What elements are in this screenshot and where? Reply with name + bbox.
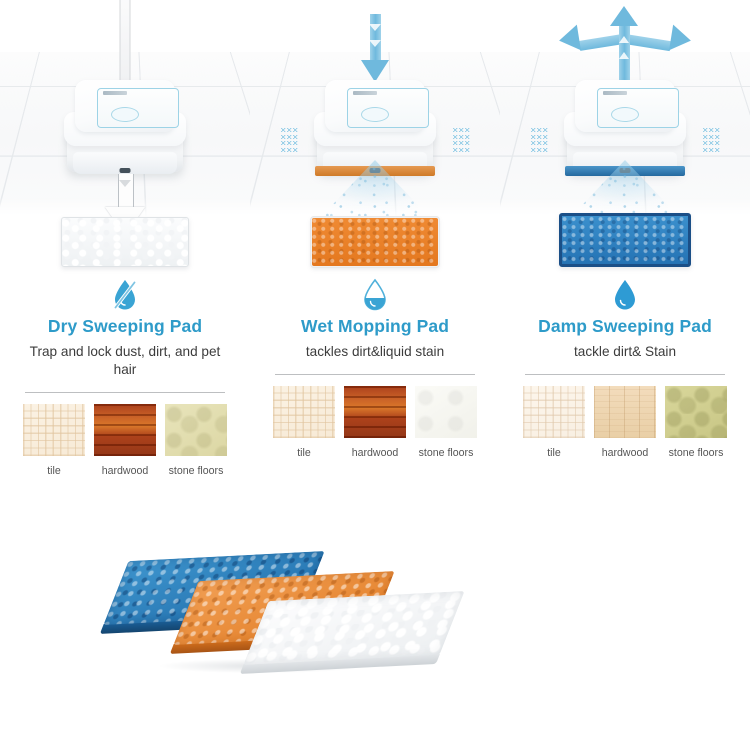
- floor-swatch-label: stone floors: [169, 465, 224, 477]
- damp-sweeping-pad-swatch: [559, 213, 691, 267]
- vibration-waves-left-icon: [280, 128, 298, 162]
- feature-column-dry-sweeping: Dry Sweeping Pad Trap and lock dust, dir…: [0, 0, 250, 528]
- product-photo-section: [0, 528, 750, 750]
- floor-swatch-stone: [165, 404, 227, 456]
- floor-swatch-hardwood: [344, 386, 406, 438]
- robot-mop-device: [63, 78, 187, 182]
- feature-columns: Dry Sweeping Pad Trap and lock dust, dir…: [0, 0, 750, 528]
- floor-type-item: stone floors: [165, 404, 227, 477]
- floor-type-swatches: tile hardwood stone floors: [250, 386, 500, 459]
- floor-swatch-stone: [665, 386, 727, 438]
- floor-swatch-label: hardwood: [602, 447, 649, 459]
- feature-title: Dry Sweeping Pad: [48, 317, 202, 336]
- floor-type-swatches: tile hardwood stone floors: [0, 404, 250, 477]
- illustration-wet-mopping: [250, 0, 500, 275]
- illustration-dry-sweeping: [0, 0, 250, 275]
- floor-swatch-stone: [415, 386, 477, 438]
- feature-column-wet-mopping: Wet Mopping Pad tackles dirt&liquid stai…: [250, 0, 500, 528]
- feature-title: Wet Mopping Pad: [301, 317, 449, 336]
- floor-type-item: tile: [23, 404, 85, 477]
- three-pads-product-photo: [112, 550, 412, 675]
- floor-swatch-tile: [273, 386, 335, 438]
- floor-type-item: stone floors: [415, 386, 477, 459]
- floor-swatch-label: hardwood: [352, 447, 399, 459]
- product-pad-white: [243, 591, 464, 665]
- floor-swatch-tile: [23, 404, 85, 456]
- wet-mopping-pad-swatch: [311, 217, 439, 267]
- feature-subtitle: tackle dirt& Stain: [574, 343, 676, 361]
- nozzle-icon: [120, 168, 131, 173]
- floor-swatch-label: stone floors: [669, 447, 724, 459]
- product-infographic: Dry Sweeping Pad Trap and lock dust, dir…: [0, 0, 750, 750]
- floor-type-item: tile: [273, 386, 335, 459]
- floor-type-item: stone floors: [665, 386, 727, 459]
- vibration-waves-right-icon: [452, 128, 470, 162]
- illustration-damp-sweeping: [500, 0, 750, 275]
- handle-stem-icon: [120, 0, 131, 80]
- feature-subtitle: Trap and lock dust, dirt, and pet hair: [18, 343, 232, 379]
- droplet-full-icon: [612, 275, 638, 315]
- section-divider: [525, 374, 725, 375]
- floor-swatch-tile: [523, 386, 585, 438]
- arrow-down-blue-icon: [360, 14, 390, 86]
- floor-swatch-label: hardwood: [102, 465, 149, 477]
- section-divider: [25, 392, 225, 393]
- floor-swatch-label: tile: [547, 447, 561, 459]
- floor-swatch-hardwood: [594, 386, 656, 438]
- dry-sweeping-pad-swatch: [61, 217, 189, 267]
- vibration-waves-left-icon: [530, 128, 548, 162]
- floor-type-item: tile: [523, 386, 585, 459]
- floor-swatch-hardwood: [94, 404, 156, 456]
- floor-type-swatches: tile hardwood stone floors: [500, 386, 750, 459]
- floor-swatch-label: tile: [47, 465, 61, 477]
- vibration-waves-right-icon: [702, 128, 720, 162]
- section-divider: [275, 374, 475, 375]
- feature-column-damp-sweeping: Damp Sweeping Pad tackle dirt& Stain til…: [500, 0, 750, 528]
- floor-type-item: hardwood: [94, 404, 156, 477]
- floor-swatch-label: stone floors: [419, 447, 474, 459]
- floor-type-item: hardwood: [344, 386, 406, 459]
- feature-title: Damp Sweeping Pad: [538, 317, 712, 336]
- floor-type-item: hardwood: [594, 386, 656, 459]
- droplet-no-water-icon: [112, 275, 138, 315]
- feature-subtitle: tackles dirt&liquid stain: [306, 343, 444, 361]
- droplet-half-full-icon: [362, 275, 388, 315]
- floor-swatch-label: tile: [297, 447, 311, 459]
